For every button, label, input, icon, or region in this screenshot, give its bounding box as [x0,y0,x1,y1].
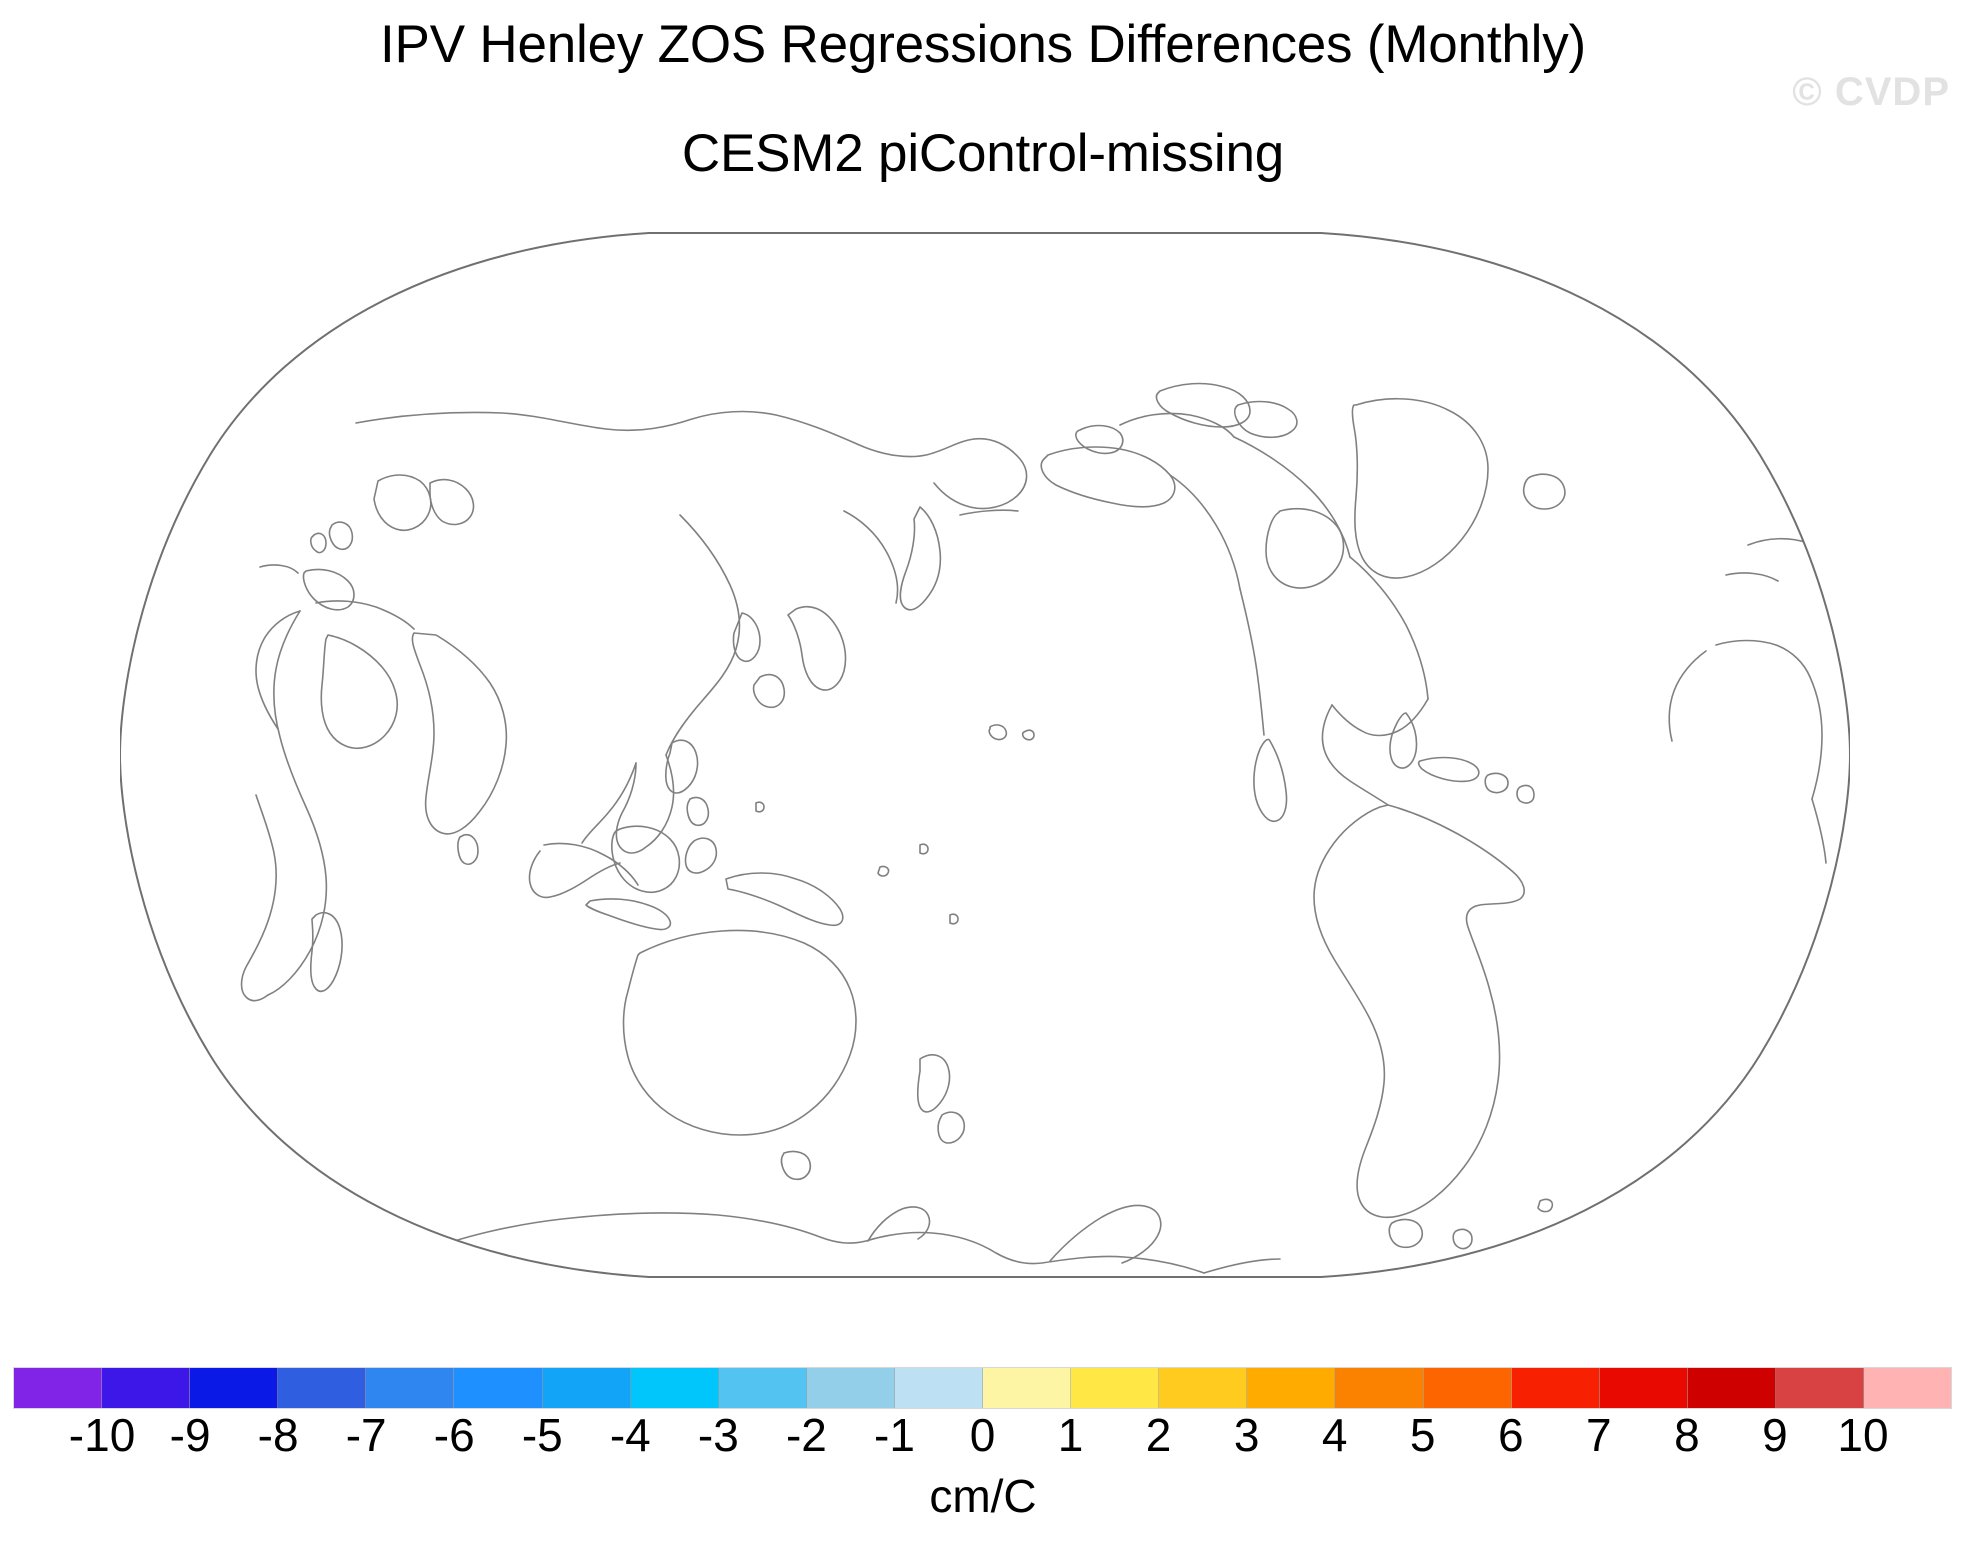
colorbar-tick-label: -2 [786,1412,827,1458]
colorbar-cell [1688,1368,1776,1408]
colorbar-cell [278,1368,366,1408]
colorbar-cell [543,1368,631,1408]
colorbar-cell [1776,1368,1864,1408]
colorbar-cell [454,1368,542,1408]
colorbar-tick-label: -6 [434,1412,475,1458]
colorbar-cell [719,1368,807,1408]
colorbar-cell [983,1368,1071,1408]
colorbar-cell [1159,1368,1247,1408]
colorbar-tick-label: 2 [1146,1412,1172,1458]
colorbar-cell [1424,1368,1512,1408]
map-background [120,233,1850,1277]
map-panel [120,215,1850,1295]
colorbar-tick-label: 9 [1762,1412,1788,1458]
colorbar-tick-label: 7 [1586,1412,1612,1458]
colorbar-cell [1335,1368,1423,1408]
colorbar-tick-label: 1 [1058,1412,1084,1458]
colorbar[interactable] [14,1368,1951,1408]
colorbar-tick-label: 6 [1498,1412,1524,1458]
world-map-robinson [120,215,1850,1295]
colorbar-tick-label: -5 [522,1412,563,1458]
colorbar-cell [1600,1368,1688,1408]
colorbar-cell [1512,1368,1600,1408]
colorbar-tick-label: -3 [698,1412,739,1458]
colorbar-tick-label: -4 [610,1412,651,1458]
colorbar-cell [1864,1368,1951,1408]
cvdp-watermark: © CVDP [1792,70,1950,115]
colorbar-cell [14,1368,102,1408]
colorbar-tick-label: 4 [1322,1412,1348,1458]
colorbar-cell [366,1368,454,1408]
colorbar-cell [631,1368,719,1408]
colorbar-tick-label: -1 [874,1412,915,1458]
colorbar-cell [1247,1368,1335,1408]
colorbar-tick-label: 5 [1410,1412,1436,1458]
colorbar-tick-labels: -10-9-8-7-6-5-4-3-2-1012345678910 [14,1408,1951,1466]
colorbar-cell [895,1368,983,1408]
colorbar-cell [190,1368,278,1408]
colorbar-cell [102,1368,190,1408]
colorbar-tick-label: 10 [1837,1412,1888,1458]
title-block: IPV Henley ZOS Regressions Differences (… [0,0,1966,180]
colorbar-tick-label: -7 [346,1412,387,1458]
colorbar-tick-label: 0 [970,1412,996,1458]
colorbar-cell [1071,1368,1159,1408]
page-title: IPV Henley ZOS Regressions Differences (… [0,18,1966,71]
page-subtitle: CESM2 piControl-missing [0,127,1966,180]
colorbar-tick-label: -8 [258,1412,299,1458]
colorbar-tick-label: 3 [1234,1412,1260,1458]
colorbar-block: -10-9-8-7-6-5-4-3-2-1012345678910 [14,1368,1951,1466]
colorbar-cell [807,1368,895,1408]
colorbar-tick-label: -9 [170,1412,211,1458]
colorbar-tick-label: 8 [1674,1412,1700,1458]
colorbar-tick-label: -10 [69,1412,135,1458]
colorbar-units-label: cm/C [0,1473,1966,1519]
